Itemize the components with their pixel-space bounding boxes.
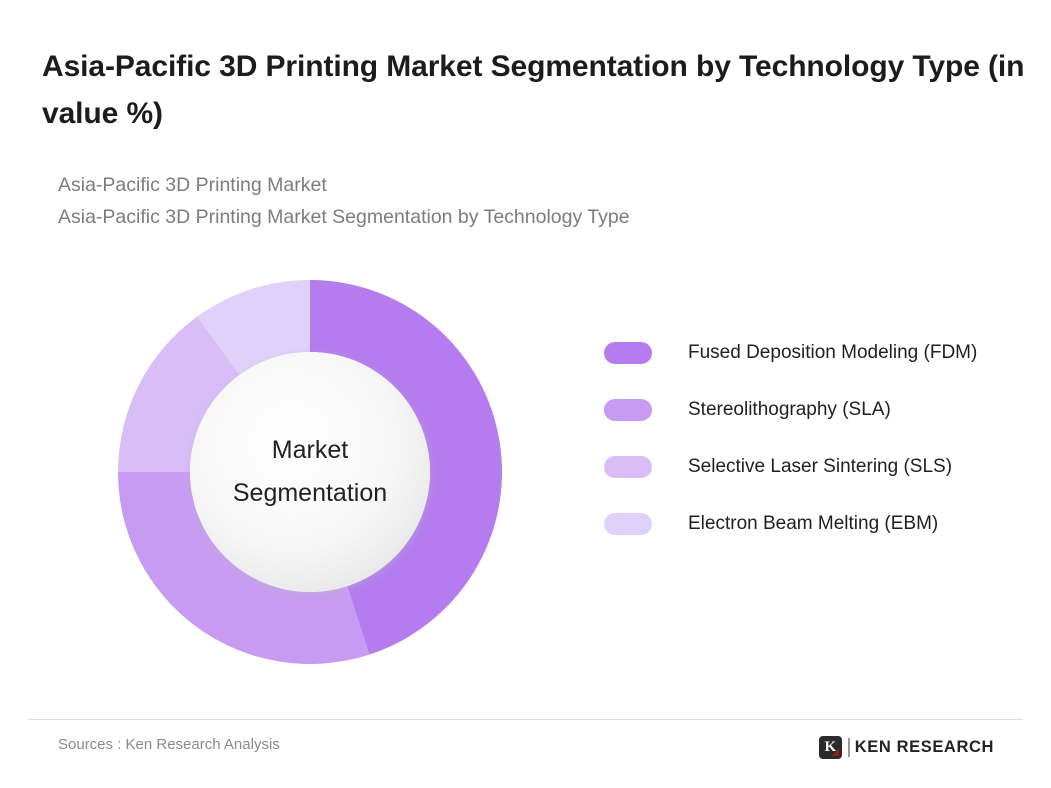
chart-legend: Fused Deposition Modeling (FDM)Stereolit… <box>604 341 1034 535</box>
footer-divider <box>28 719 1023 720</box>
subtitle-line-2: Asia-Pacific 3D Printing Market Segmenta… <box>58 202 958 234</box>
logo-badge-icon: K <box>819 736 842 759</box>
donut-chart: Market Segmentation <box>110 272 510 672</box>
legend-item[interactable]: Stereolithography (SLA) <box>604 398 1034 421</box>
ken-research-logo: K KEN RESEARCH <box>819 734 994 760</box>
legend-item-label: Fused Deposition Modeling (FDM) <box>688 342 977 364</box>
legend-item-label: Stereolithography (SLA) <box>688 399 891 421</box>
legend-color-swatch <box>604 456 652 478</box>
page-title: Asia-Pacific 3D Printing Market Segmenta… <box>42 44 1032 137</box>
donut-chart-svg <box>110 272 510 672</box>
slide-canvas: Asia-Pacific 3D Printing Market Segmenta… <box>0 0 1051 788</box>
legend-item[interactable]: Selective Laser Sintering (SLS) <box>604 455 1034 478</box>
donut-center-hole <box>190 352 430 592</box>
legend-item-label: Selective Laser Sintering (SLS) <box>688 456 952 478</box>
logo-k-letter: K <box>824 740 836 755</box>
logo-wordmark: KEN RESEARCH <box>855 738 994 757</box>
sources-note: Sources : Ken Research Analysis <box>58 736 280 753</box>
legend-color-swatch <box>604 513 652 535</box>
legend-item-label: Electron Beam Melting (EBM) <box>688 513 938 535</box>
subtitle-line-1: Asia-Pacific 3D Printing Market <box>58 170 958 202</box>
legend-item[interactable]: Fused Deposition Modeling (FDM) <box>604 341 1034 364</box>
logo-divider <box>848 738 850 757</box>
legend-item[interactable]: Electron Beam Melting (EBM) <box>604 512 1034 535</box>
legend-color-swatch <box>604 342 652 364</box>
legend-color-swatch <box>604 399 652 421</box>
subtitle-block: Asia-Pacific 3D Printing Market Asia-Pac… <box>58 170 958 233</box>
